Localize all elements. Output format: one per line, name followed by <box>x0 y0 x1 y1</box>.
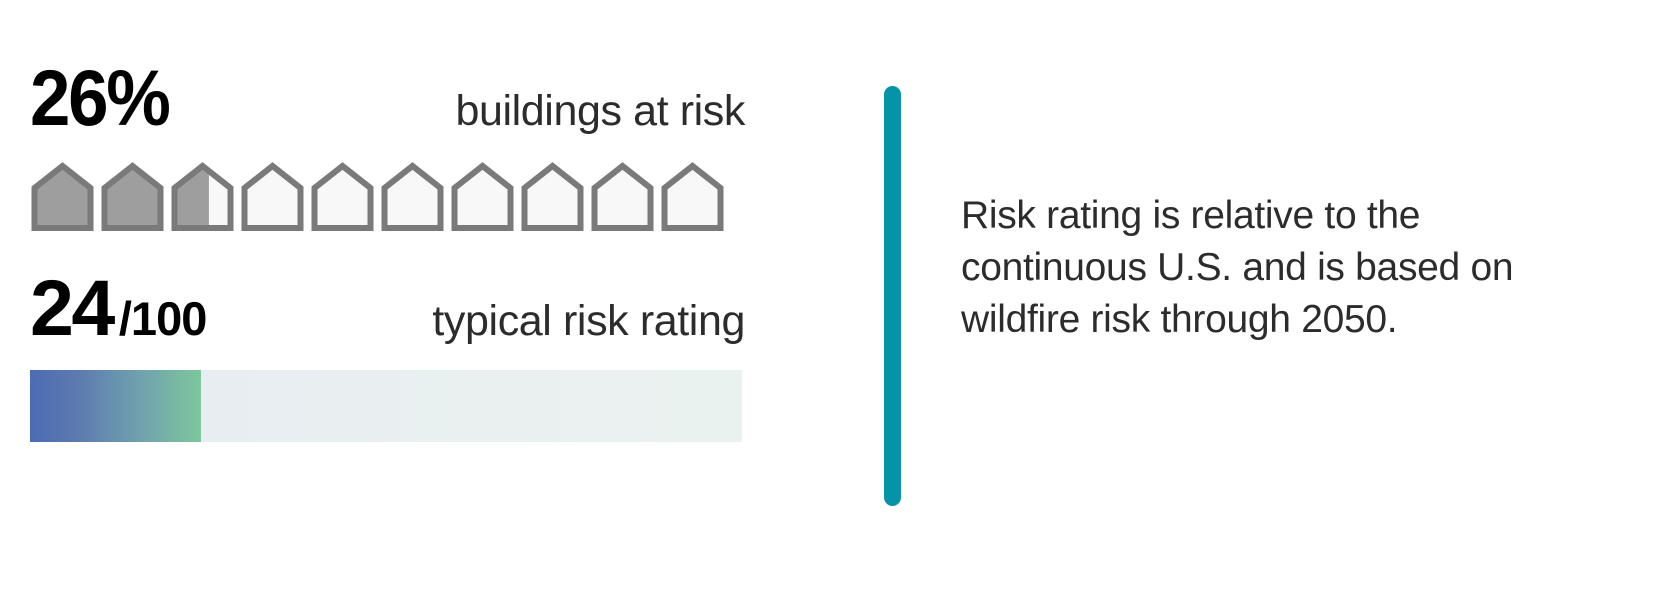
house-icon <box>170 162 235 232</box>
risk-rating-meter-fill <box>30 370 201 442</box>
house-icon <box>450 162 515 232</box>
house-icon <box>310 162 375 232</box>
buildings-stat-row: 26% buildings at risk <box>30 55 745 141</box>
wildfire-risk-panel: 26% buildings at risk 24/100 typical ris… <box>0 0 1680 600</box>
house-icon <box>380 162 445 232</box>
rating-stat-block: 24/100 typical risk rating <box>30 265 745 351</box>
rating-denominator: /100 <box>119 292 206 345</box>
house-icon <box>590 162 655 232</box>
buildings-stat-label: buildings at risk <box>455 68 745 154</box>
buildings-percent-value: 26% <box>30 55 169 141</box>
risk-rating-note: Risk rating is relative to the continuou… <box>961 190 1541 346</box>
rating-stat-label: typical risk rating <box>432 278 745 364</box>
house-icon <box>520 162 585 232</box>
vertical-divider-bar <box>884 86 901 506</box>
house-pictogram-row <box>30 162 725 232</box>
house-icon <box>660 162 725 232</box>
house-icon <box>240 162 305 232</box>
rating-value-group: 24/100 <box>30 265 206 351</box>
risk-rating-meter <box>30 370 742 442</box>
house-icon <box>100 162 165 232</box>
buildings-stat-block: 26% buildings at risk <box>30 55 745 141</box>
rating-value: 24 <box>30 263 113 352</box>
house-icon <box>30 162 95 232</box>
rating-stat-row: 24/100 typical risk rating <box>30 265 745 351</box>
